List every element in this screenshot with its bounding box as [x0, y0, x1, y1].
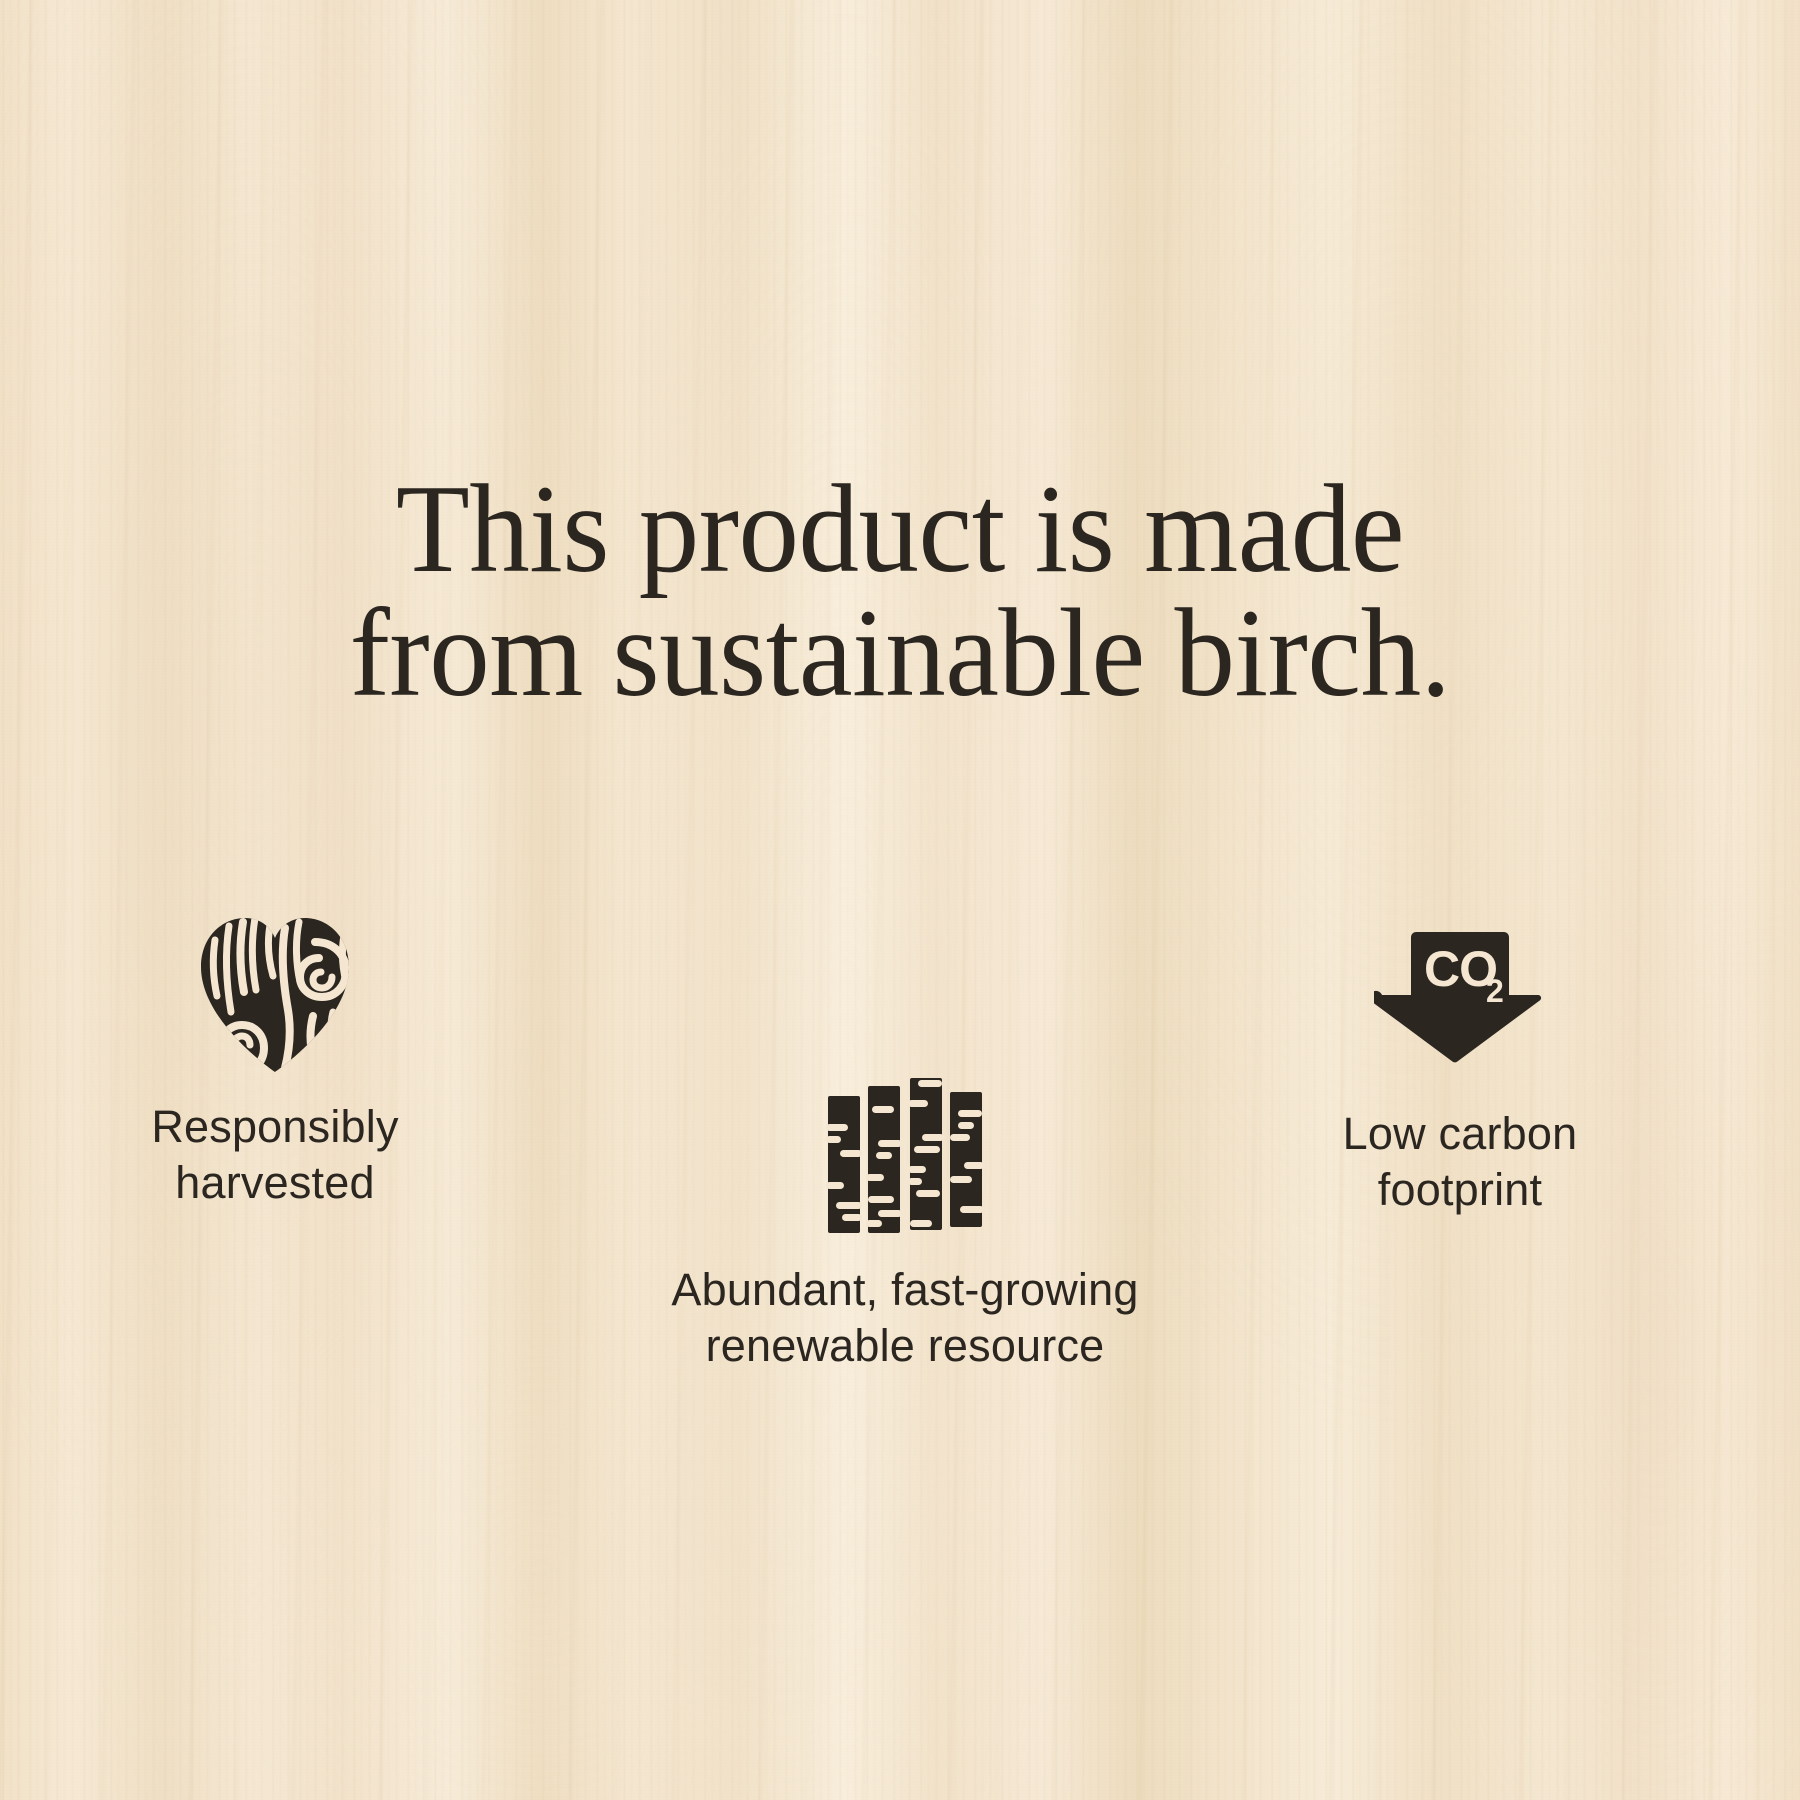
feature-caption: Responsibly harvested — [100, 1099, 450, 1211]
feature-caption: Abundant, fast-growing renewable resourc… — [640, 1262, 1170, 1374]
page-title: This product is made from sustainable bi… — [36, 468, 1764, 716]
feature-caption: Low carbon footprint — [1300, 1106, 1620, 1218]
card-content: This product is made from sustainable bi… — [0, 0, 1800, 1800]
sustainability-card: This product is made from sustainable bi… — [0, 0, 1800, 1800]
headline-line-2: from sustainable birch. — [36, 592, 1764, 716]
headline-line-1: This product is made — [36, 468, 1764, 592]
feature-renewable-resource: Abundant, fast-growing renewable resourc… — [640, 1078, 1170, 1374]
co2-subscript: 2 — [1486, 973, 1504, 1009]
feature-low-carbon-footprint: CO 2 Low carbon footprint — [1300, 928, 1620, 1218]
wood-grain-heart-icon — [100, 912, 450, 1077]
feature-responsibly-harvested: Responsibly harvested — [100, 912, 450, 1211]
co2-down-arrow-icon: CO 2 — [1300, 928, 1620, 1078]
birch-trees-icon — [640, 1078, 1170, 1236]
